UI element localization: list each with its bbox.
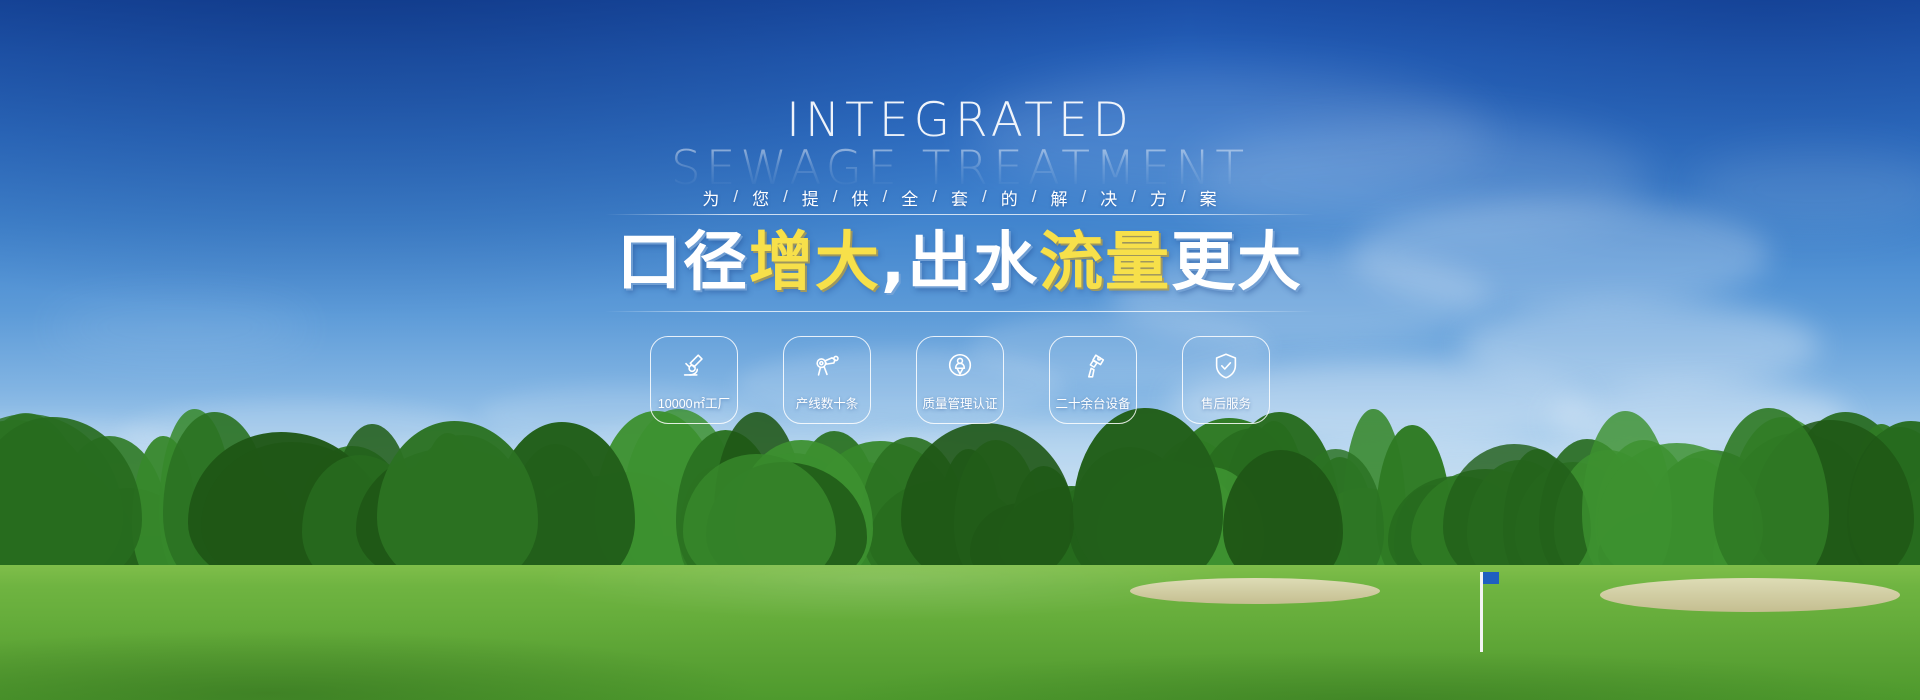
feature-badge-row: 10000㎡工厂产线数十条质量管理认证二十余台设备售后服务 (650, 336, 1270, 424)
headline: 口径增大,出水流量更大 (510, 228, 1410, 298)
feature-badge-3[interactable]: 质量管理认证 (916, 336, 1004, 424)
slogan-char: 解 (1050, 185, 1068, 210)
feature-badge-4[interactable]: 二十余台设备 (1049, 336, 1137, 424)
feature-badge-label: 10000㎡工厂 (658, 393, 730, 412)
slogan-char: 为 (702, 185, 720, 210)
slogan-separator: / (1118, 187, 1150, 207)
feature-badge-label: 售后服务 (1201, 393, 1251, 412)
divider-bottom (605, 311, 1315, 312)
slogan-separator: / (919, 187, 951, 207)
slogan-char: 全 (901, 185, 919, 210)
slogan-separator: / (1019, 187, 1051, 207)
feature-badge-label: 二十余台设备 (1055, 393, 1130, 412)
slogan-separator: / (969, 187, 1001, 207)
shield-check-icon (1211, 351, 1241, 381)
hero-banner: INTEGRATED SEWAGE TREATMENT 为/您/提/供/全/套/… (0, 0, 1920, 700)
english-title-block: INTEGRATED SEWAGE TREATMENT (580, 98, 1340, 192)
certification-person-icon (945, 351, 975, 381)
slogan-char: 提 (802, 185, 820, 210)
equipment-tool-icon (1078, 351, 1108, 381)
feature-badge-5[interactable]: 售后服务 (1182, 336, 1270, 424)
headline-segment: , (881, 226, 907, 300)
production-line-icon (812, 351, 842, 381)
english-title-line1: INTEGRATED (580, 98, 1340, 144)
slogan-separator: / (820, 187, 852, 207)
banner-content: INTEGRATED SEWAGE TREATMENT 为/您/提/供/全/套/… (0, 0, 1920, 700)
headline-segment: 出水 (907, 226, 1039, 300)
slogan-char: 套 (951, 185, 969, 210)
divider-top (605, 214, 1315, 215)
slogan-separator: / (1068, 187, 1100, 207)
feature-badge-2[interactable]: 产线数十条 (783, 336, 871, 424)
slogan-char: 方 (1150, 185, 1168, 210)
feature-badge-1[interactable]: 10000㎡工厂 (650, 336, 738, 424)
microscope-icon (679, 351, 709, 381)
slogan-char: 的 (1001, 185, 1019, 210)
slogan-char: 您 (752, 185, 770, 210)
slogan-separator: / (870, 187, 902, 207)
slogan-row: 为/您/提/供/全/套/的/解/决/方/案 (580, 185, 1340, 210)
headline-segment: 更大 (1171, 226, 1303, 300)
slogan-char: 供 (852, 185, 870, 210)
headline-segment: 口径 (617, 226, 749, 300)
slogan-separator: / (720, 187, 752, 207)
slogan-separator: / (1168, 187, 1200, 207)
headline-segment: 流量 (1039, 226, 1171, 300)
headline-segment: 增大 (749, 226, 881, 300)
slogan-char: 决 (1100, 185, 1118, 210)
slogan-separator: / (770, 187, 802, 207)
feature-badge-label: 质量管理认证 (922, 393, 997, 412)
slogan-char: 案 (1200, 185, 1218, 210)
feature-badge-label: 产线数十条 (796, 393, 859, 412)
